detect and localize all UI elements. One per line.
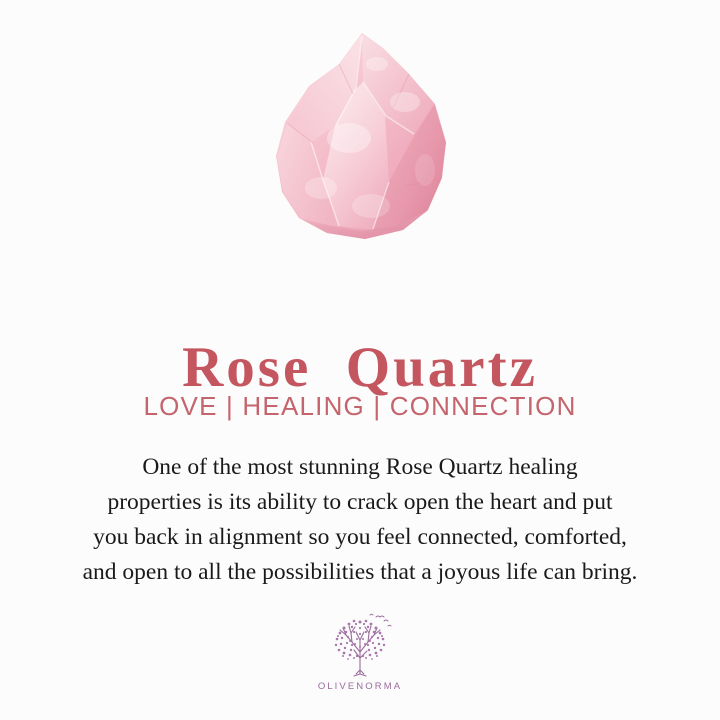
- description-line: you back in alignment so you feel connec…: [24, 520, 696, 555]
- description-line: One of the most stunning Rose Quartz hea…: [24, 450, 696, 485]
- description-line: and open to all the possibilities that a…: [24, 555, 696, 590]
- description-line: properties is its ability to crack open …: [24, 485, 696, 520]
- hero-image-container: [0, 0, 720, 275]
- brand-name: OLIVENORMA: [318, 681, 402, 692]
- page-title: Rose Quartz: [0, 338, 720, 398]
- rose-quartz-info-card: Rose Quartz LOVE | HEALING | CONNECTION …: [0, 0, 720, 720]
- tree-of-life-icon: [321, 612, 399, 678]
- keyword-subtitle: LOVE | HEALING | CONNECTION: [0, 392, 720, 421]
- rose-quartz-crystal-image: [265, 30, 455, 245]
- brand-logo: OLIVENORMA: [0, 612, 720, 692]
- description-text: One of the most stunning Rose Quartz hea…: [24, 450, 696, 590]
